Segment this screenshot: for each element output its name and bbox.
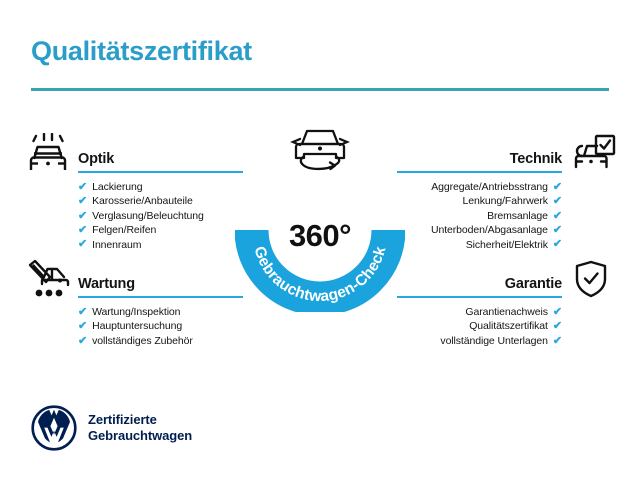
- list-item: ✔Verglasung/Beleuchtung: [78, 209, 243, 223]
- section-header: Garantie: [397, 268, 562, 298]
- vw-logo: [31, 405, 77, 451]
- header-divider: [31, 88, 609, 91]
- section-underline: [78, 296, 243, 299]
- list-item-label: Hauptuntersuchung: [92, 319, 182, 333]
- check-icon: ✔: [78, 321, 87, 332]
- section-optik: Optik ✔Lackierung ✔Karosserie/Anbauteile…: [78, 143, 243, 268]
- section-title-wartung: Wartung: [78, 276, 135, 292]
- check-icon: ✔: [553, 225, 562, 236]
- list-item: ✔Hauptuntersuchung: [78, 319, 243, 333]
- list-item-label: vollständiges Zubehör: [92, 334, 193, 348]
- list-item-label: Verglasung/Beleuchtung: [92, 209, 204, 223]
- list-item: ✔Lackierung: [78, 180, 243, 194]
- section-garantie: Garantie ✔Garantienachweis ✔Qualitätszer…: [397, 268, 562, 364]
- list-item: ✔Bremsanlage: [397, 209, 562, 223]
- list-item-label: Unterboden/Abgasanlage: [431, 223, 548, 237]
- list-item: ✔Wartung/Inspektion: [78, 305, 243, 319]
- section-title-garantie: Garantie: [505, 276, 562, 292]
- check-icon: ✔: [78, 239, 87, 250]
- section-underline: [397, 171, 562, 174]
- list-item-label: Aggregate/Antriebsstrang: [431, 180, 548, 194]
- section-title-technik: Technik: [510, 151, 562, 167]
- list-item: ✔Aggregate/Antriebsstrang: [397, 180, 562, 194]
- section-underline: [397, 296, 562, 299]
- section-header: Optik: [78, 143, 243, 173]
- car-checkbox-icon: [570, 134, 616, 174]
- check-icon: ✔: [78, 225, 87, 236]
- list-item: ✔Sicherheit/Elektrik: [397, 238, 562, 252]
- checklist-wartung: ✔Wartung/Inspektion ✔Hauptuntersuchung ✔…: [78, 305, 243, 348]
- checklist-garantie: ✔Garantienachweis ✔Qualitätszertifikat ✔…: [397, 305, 562, 348]
- car-wrench-icon: [26, 259, 72, 299]
- section-technik: Technik ✔Aggregate/Antriebsstrang ✔Lenku…: [397, 143, 562, 268]
- brand-line-1: Zertifizierte: [88, 412, 192, 428]
- check-icon: ✔: [553, 336, 562, 347]
- section-header: Technik: [397, 143, 562, 173]
- check-icon: ✔: [553, 211, 562, 222]
- badge-360-check: Gebrauchtwagen-Check 360°: [235, 160, 405, 312]
- certificate-page: Qualitätszertifikat Optik ✔Lackierung ✔K…: [0, 0, 640, 480]
- list-item: ✔vollständige Unterlagen: [397, 334, 562, 348]
- list-item-label: Felgen/Reifen: [92, 223, 156, 237]
- list-item: ✔Unterboden/Abgasanlage: [397, 223, 562, 237]
- list-item: ✔Lenkung/Fahrwerk: [397, 194, 562, 208]
- check-icon: ✔: [553, 239, 562, 250]
- list-item-label: Qualitätszertifikat: [469, 319, 548, 333]
- list-item-label: Innenraum: [92, 238, 141, 252]
- list-item: ✔Karosserie/Anbauteile: [78, 194, 243, 208]
- list-item-label: Lackierung: [92, 180, 142, 194]
- check-icon: ✔: [78, 182, 87, 193]
- section-header: Wartung: [78, 268, 243, 298]
- list-item: ✔vollständiges Zubehör: [78, 334, 243, 348]
- check-icon: ✔: [78, 336, 87, 347]
- section-underline: [78, 171, 243, 174]
- section-title-optik: Optik: [78, 151, 114, 167]
- checklist-optik: ✔Lackierung ✔Karosserie/Anbauteile ✔Verg…: [78, 180, 243, 252]
- list-item: ✔Felgen/Reifen: [78, 223, 243, 237]
- check-icon: ✔: [78, 211, 87, 222]
- shield-check-icon: [568, 259, 614, 299]
- section-wartung: Wartung ✔Wartung/Inspektion ✔Hauptunters…: [78, 268, 243, 364]
- list-item-label: Sicherheit/Elektrik: [466, 238, 548, 252]
- list-item: ✔Garantienachweis: [397, 305, 562, 319]
- list-item: ✔Qualitätszertifikat: [397, 319, 562, 333]
- check-icon: ✔: [553, 196, 562, 207]
- list-item-label: Garantienachweis: [465, 305, 547, 319]
- list-item-label: Karosserie/Anbauteile: [92, 194, 193, 208]
- check-icon: ✔: [553, 321, 562, 332]
- list-item-label: Wartung/Inspektion: [92, 305, 180, 319]
- list-item-label: Bremsanlage: [487, 209, 548, 223]
- brand-line-2: Gebrauchtwagen: [88, 428, 192, 444]
- footer-brand: Zertifizierte Gebrauchtwagen: [31, 405, 192, 451]
- list-item: ✔Innenraum: [78, 238, 243, 252]
- brand-text: Zertifizierte Gebrauchtwagen: [88, 412, 192, 444]
- page-title: Qualitätszertifikat: [31, 36, 252, 67]
- list-item-label: Lenkung/Fahrwerk: [463, 194, 548, 208]
- check-icon: ✔: [78, 307, 87, 318]
- check-icon: ✔: [553, 182, 562, 193]
- check-icon: ✔: [553, 307, 562, 318]
- check-icon: ✔: [78, 196, 87, 207]
- car-headlights-icon: [26, 133, 72, 173]
- list-item-label: vollständige Unterlagen: [440, 334, 547, 348]
- badge-center-label: 360°: [235, 218, 405, 254]
- checklist-technik: ✔Aggregate/Antriebsstrang ✔Lenkung/Fahrw…: [397, 180, 562, 252]
